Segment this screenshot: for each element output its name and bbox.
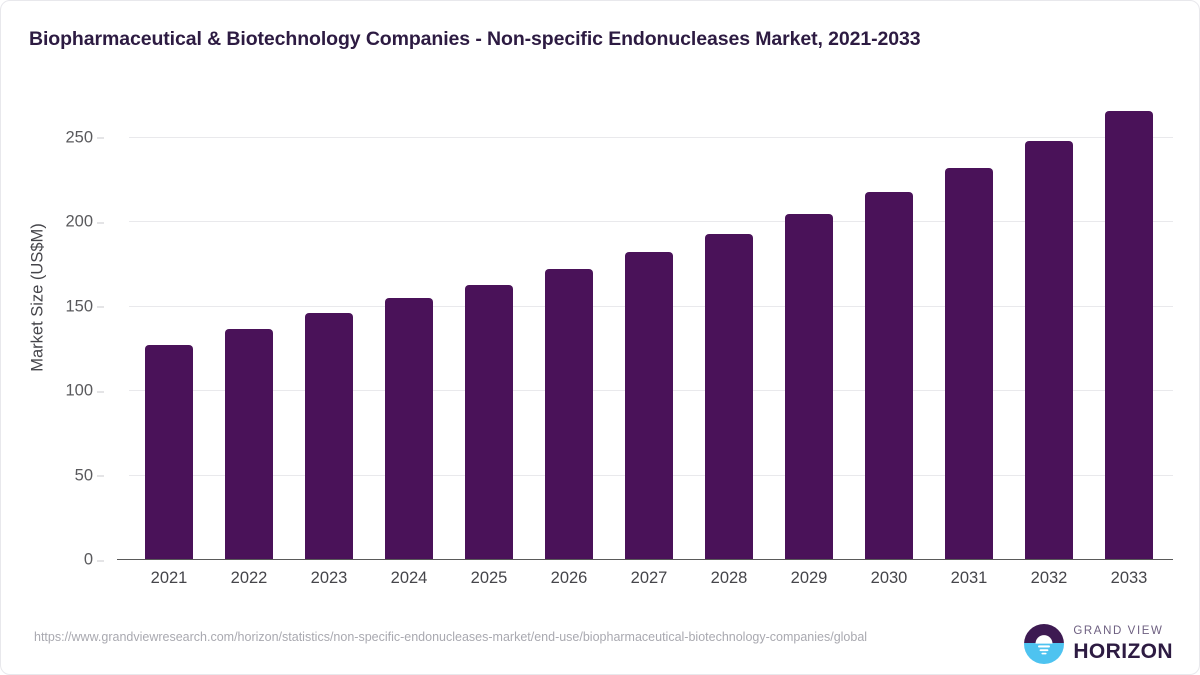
bar[interactable] — [1025, 141, 1073, 560]
x-axis-tick-label: 2028 — [689, 569, 769, 588]
y-axis-tick-label: 150 — [65, 297, 93, 316]
y-axis-tick-mark — [97, 391, 104, 392]
bar[interactable] — [1105, 111, 1153, 560]
y-axis-tick-labels: 050100150200250 — [1, 97, 105, 560]
x-axis-tick-labels: 2021202220232024202520262027202820292030… — [129, 569, 1173, 599]
bar-slot — [129, 97, 209, 560]
bar[interactable] — [785, 214, 833, 560]
y-axis-tick-label: 200 — [65, 213, 93, 232]
y-axis-tick-mark — [97, 476, 104, 477]
bar[interactable] — [225, 329, 273, 561]
bar-slot — [209, 97, 289, 560]
page-title: Biopharmaceutical & Biotechnology Compan… — [29, 28, 1169, 51]
bar-slot — [769, 97, 849, 560]
x-axis-tick-label: 2027 — [609, 569, 689, 588]
plot-area — [129, 97, 1173, 560]
chart-page: Biopharmaceutical & Biotechnology Compan… — [0, 0, 1200, 675]
x-axis-tick-label: 2024 — [369, 569, 449, 588]
y-axis-tick-mark — [97, 138, 104, 139]
bar-slot — [929, 97, 1009, 560]
bar[interactable] — [705, 234, 753, 560]
x-axis-tick-label: 2029 — [769, 569, 849, 588]
bar-slot — [289, 97, 369, 560]
bar[interactable] — [385, 298, 433, 560]
bar-slot — [849, 97, 929, 560]
logo-line-2: HORIZON — [1073, 641, 1173, 662]
bar-slot — [1089, 97, 1169, 560]
bar[interactable] — [625, 252, 673, 560]
bar[interactable] — [545, 269, 593, 560]
y-axis-tick-mark — [97, 560, 104, 561]
bar[interactable] — [145, 345, 193, 560]
x-axis-line — [117, 559, 1173, 561]
grand-view-horizon-logo[interactable]: GRAND VIEW HORIZON — [1024, 624, 1173, 664]
y-axis-title: Market Size (US$M) — [29, 98, 48, 498]
bar-slot — [1009, 97, 1089, 560]
x-axis-tick-label: 2031 — [929, 569, 1009, 588]
bar[interactable] — [305, 313, 353, 560]
x-axis-tick-label: 2022 — [209, 569, 289, 588]
bar-slot — [369, 97, 449, 560]
bar[interactable] — [945, 168, 993, 560]
x-axis-tick-label: 2026 — [529, 569, 609, 588]
bar-slot — [449, 97, 529, 560]
bar[interactable] — [465, 285, 513, 560]
x-axis-tick-label: 2025 — [449, 569, 529, 588]
logo-line-1: GRAND VIEW — [1073, 626, 1173, 638]
x-axis-tick-label: 2033 — [1089, 569, 1169, 588]
logo-wordmark: GRAND VIEW HORIZON — [1073, 626, 1173, 662]
y-axis-tick-mark — [97, 222, 104, 223]
bar[interactable] — [865, 192, 913, 560]
bar-slot — [529, 97, 609, 560]
y-axis-tick-label: 0 — [84, 551, 93, 570]
y-axis-tick-label: 100 — [65, 382, 93, 401]
x-axis-tick-label: 2030 — [849, 569, 929, 588]
source-url[interactable]: https://www.grandviewresearch.com/horizo… — [34, 629, 964, 646]
y-axis-tick-mark — [97, 307, 104, 308]
x-axis-tick-label: 2021 — [129, 569, 209, 588]
x-axis-tick-label: 2032 — [1009, 569, 1089, 588]
bar-slot — [609, 97, 689, 560]
y-axis-tick-label: 50 — [75, 466, 93, 485]
y-axis-tick-label: 250 — [65, 128, 93, 147]
horizon-sun-circle-icon — [1024, 624, 1064, 664]
bar-slot — [689, 97, 769, 560]
x-axis-tick-label: 2023 — [289, 569, 369, 588]
